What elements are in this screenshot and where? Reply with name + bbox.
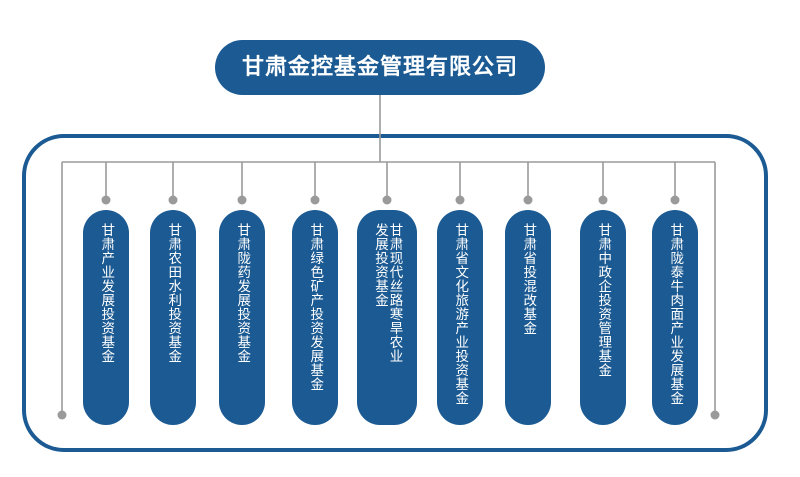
org-chart: 甘肃金控基金管理有限公司 bbox=[0, 0, 800, 477]
child-node-8[interactable]: 甘肃陇泰牛肉面产业发展基金 bbox=[652, 210, 698, 425]
child-node-7[interactable]: 甘肃中政企投资管理基金 bbox=[580, 210, 626, 425]
child-node-4[interactable]: 甘肃现代丝路寒旱农业 发展投资基金 bbox=[357, 210, 417, 425]
root-node-company[interactable]: 甘肃金控基金管理有限公司 bbox=[215, 40, 545, 95]
child-node-label: 甘肃产业发展投资基金 bbox=[99, 223, 113, 363]
child-node-2[interactable]: 甘肃陇药发展投资基金 bbox=[219, 210, 265, 425]
child-node-3[interactable]: 甘肃绿色矿产投资发展基金 bbox=[292, 210, 338, 425]
child-node-1[interactable]: 甘肃农田水利投资基金 bbox=[150, 210, 196, 425]
child-node-label: 甘肃陇泰牛肉面产业发展基金 bbox=[668, 223, 682, 405]
child-node-label: 甘肃省文化旅游产业投资基金 bbox=[453, 223, 467, 405]
child-node-label: 甘肃绿色矿产投资发展基金 bbox=[308, 223, 322, 391]
child-node-5[interactable]: 甘肃省文化旅游产业投资基金 bbox=[437, 210, 483, 425]
child-node-label: 甘肃农田水利投资基金 bbox=[166, 223, 180, 363]
child-node-label: 甘肃陇药发展投资基金 bbox=[235, 223, 249, 363]
child-node-label: 甘肃中政企投资管理基金 bbox=[596, 223, 610, 377]
root-node-label: 甘肃金控基金管理有限公司 bbox=[242, 57, 518, 79]
child-node-6[interactable]: 甘肃省投混改基金 bbox=[505, 210, 551, 425]
child-node-label: 甘肃现代丝路寒旱农业 发展投资基金 bbox=[373, 223, 402, 363]
child-node-0[interactable]: 甘肃产业发展投资基金 bbox=[83, 210, 129, 425]
child-node-label: 甘肃省投混改基金 bbox=[521, 223, 535, 335]
